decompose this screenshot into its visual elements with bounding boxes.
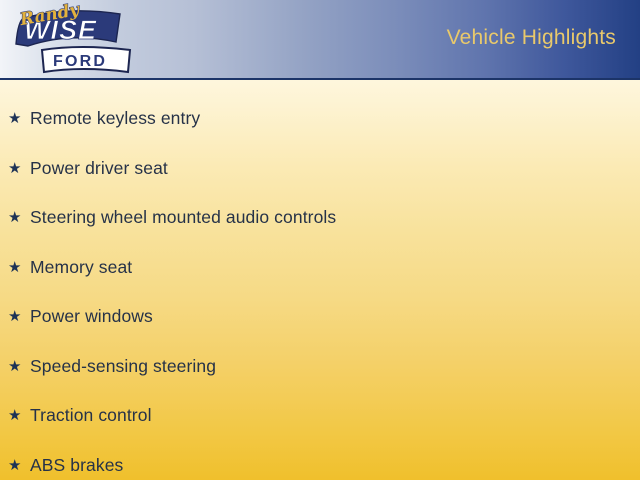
list-item: ★ Traction control xyxy=(0,391,640,441)
page-title: Vehicle Highlights xyxy=(447,26,616,50)
list-item-label: Power windows xyxy=(30,306,153,327)
svg-text:FORD: FORD xyxy=(53,53,107,70)
star-icon: ★ xyxy=(8,359,30,374)
star-icon: ★ xyxy=(8,260,30,275)
star-icon: ★ xyxy=(8,161,30,176)
list-item-label: Remote keyless entry xyxy=(30,108,200,129)
vehicle-highlights-slide: WISE FORD Randy Vehicle Highlights ★ Rem… xyxy=(0,0,640,480)
list-item: ★ Power windows xyxy=(0,292,640,342)
page-header: WISE FORD Randy Vehicle Highlights xyxy=(0,0,640,80)
star-icon: ★ xyxy=(8,210,30,225)
list-item-label: Power driver seat xyxy=(30,158,168,179)
list-item: ★ Steering wheel mounted audio controls xyxy=(0,193,640,243)
list-item: ★ Remote keyless entry xyxy=(0,94,640,144)
list-item-label: ABS brakes xyxy=(30,455,123,476)
list-item-label: Speed-sensing steering xyxy=(30,356,216,377)
star-icon: ★ xyxy=(8,408,30,423)
list-item: ★ Memory seat xyxy=(0,243,640,293)
star-icon: ★ xyxy=(8,111,30,126)
list-item-label: Memory seat xyxy=(30,257,132,278)
list-item: ★ Speed-sensing steering xyxy=(0,342,640,392)
list-item-label: Traction control xyxy=(30,405,152,426)
vehicle-highlights-list: ★ Remote keyless entry ★ Power driver se… xyxy=(0,80,640,480)
star-icon: ★ xyxy=(8,309,30,324)
star-icon: ★ xyxy=(8,458,30,473)
list-item-label: Steering wheel mounted audio controls xyxy=(30,207,336,228)
list-item: ★ ABS brakes xyxy=(0,441,640,480)
randy-wise-ford-logo[interactable]: WISE FORD Randy xyxy=(4,2,140,78)
list-item: ★ Power driver seat xyxy=(0,144,640,194)
